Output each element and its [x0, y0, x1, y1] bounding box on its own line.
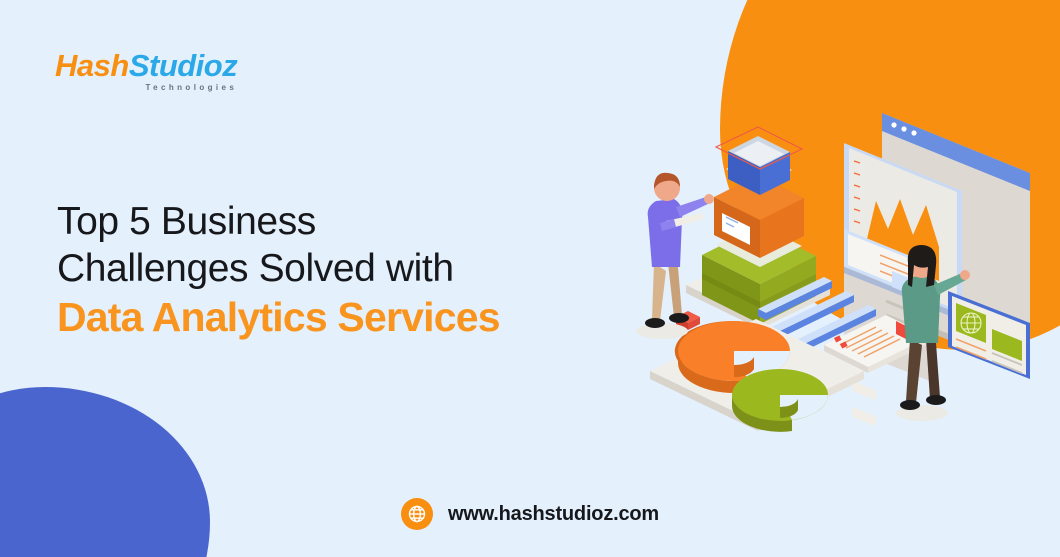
blue-decorative-shape	[0, 387, 210, 557]
headline-line-1: Top 5 Business	[57, 198, 500, 245]
logo-hash-text: Hash	[55, 48, 129, 83]
website-url-text: www.hashstudioz.com	[448, 503, 659, 526]
logo-tagline: Technologies	[55, 84, 237, 92]
banner-canvas: HashStudioz Technologies Top 5 Business …	[0, 0, 1060, 557]
headline-block: Top 5 Business Challenges Solved with Da…	[57, 198, 500, 341]
company-logo[interactable]: HashStudioz Technologies	[55, 50, 237, 92]
footer-url-block[interactable]: www.hashstudioz.com	[0, 498, 1060, 530]
logo-wordmark: HashStudioz	[55, 50, 237, 81]
logo-studioz-text: Studioz	[129, 48, 237, 83]
globe-icon	[401, 498, 433, 530]
data-analytics-illustration	[630, 95, 1050, 445]
headline-line-2: Challenges Solved with	[57, 245, 500, 292]
headline-line-3-accent: Data Analytics Services	[57, 294, 500, 341]
